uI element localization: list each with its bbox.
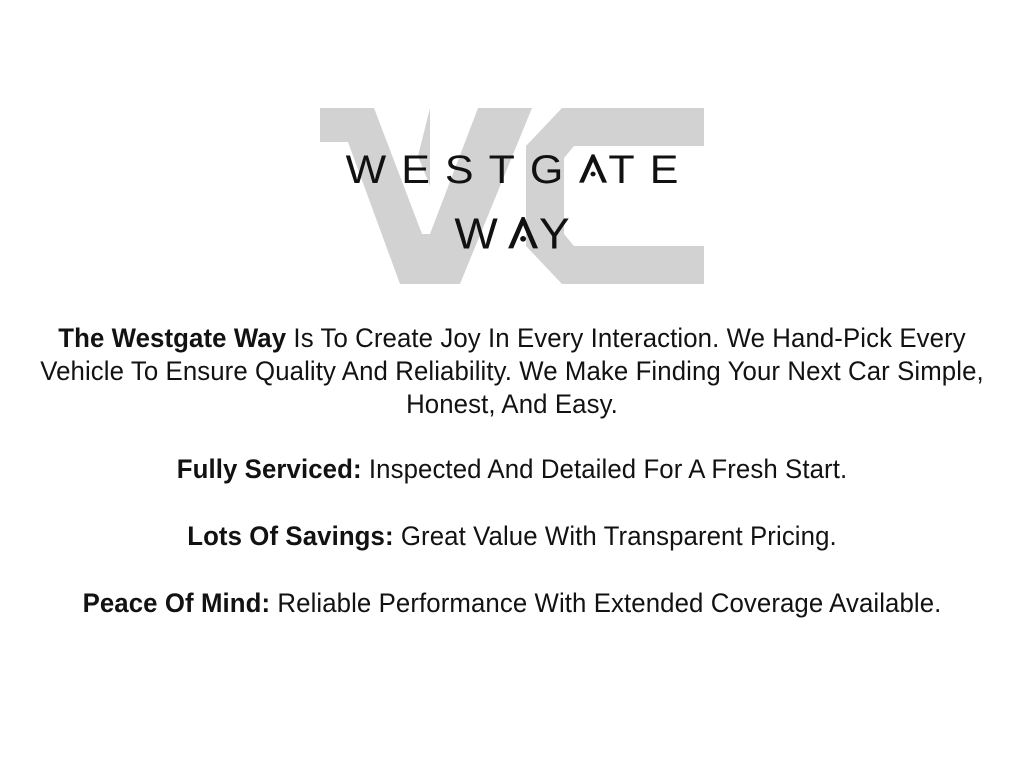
point-peace-of-mind-label: Peace Of Mind: [83, 588, 271, 618]
spacer [0, 553, 1024, 587]
wordmark-letter-a-dotted-icon [578, 155, 608, 183]
point-fully-serviced-label: Fully Serviced: [177, 454, 362, 484]
wordmark-way: WY [0, 198, 1024, 255]
point-fully-serviced: Fully Serviced: Inspected And Detailed F… [23, 453, 1001, 486]
wordmark-letter-t2: T [608, 148, 649, 192]
wordmark-way-letter-y: Y [539, 208, 579, 257]
point-lots-of-savings-text: Great Value With Transparent Pricing. [394, 521, 837, 551]
wordmark-way-letter-w: W [454, 208, 506, 257]
point-fully-serviced-text: Inspected And Detailed For A Fresh Start… [362, 454, 848, 484]
point-peace-of-mind: Peace Of Mind: Reliable Performance With… [23, 587, 1001, 620]
page-root: WESTGTE WY The Westgate Way Is To Create… [0, 0, 1024, 768]
point-lots-of-savings-label: Lots Of Savings: [187, 521, 393, 551]
spacer [0, 421, 1024, 453]
wordmark-way-letter-a-dotted-icon [507, 217, 539, 248]
body-copy: The Westgate Way Is To Create Joy In Eve… [0, 322, 1024, 620]
wordmark: WESTGTE WY [0, 100, 1024, 258]
logo-block: WESTGTE WY [0, 100, 1024, 290]
spacer [0, 486, 1024, 520]
wordmark-westgate: WESTGTE [0, 100, 1024, 190]
intro-paragraph: The Westgate Way Is To Create Joy In Eve… [23, 322, 1001, 421]
wordmark-letter-e2: E [650, 148, 694, 192]
point-peace-of-mind-text: Reliable Performance With Extended Cover… [270, 588, 941, 618]
wordmark-letter-w: W [346, 148, 402, 192]
intro-lead: The Westgate Way [58, 323, 286, 353]
wordmark-letter-t: T [489, 148, 530, 192]
wordmark-letter-e: E [401, 148, 445, 192]
point-lots-of-savings: Lots Of Savings: Great Value With Transp… [23, 520, 1001, 553]
wordmark-letter-s: S [445, 148, 489, 192]
wordmark-letter-g: G [530, 148, 578, 192]
